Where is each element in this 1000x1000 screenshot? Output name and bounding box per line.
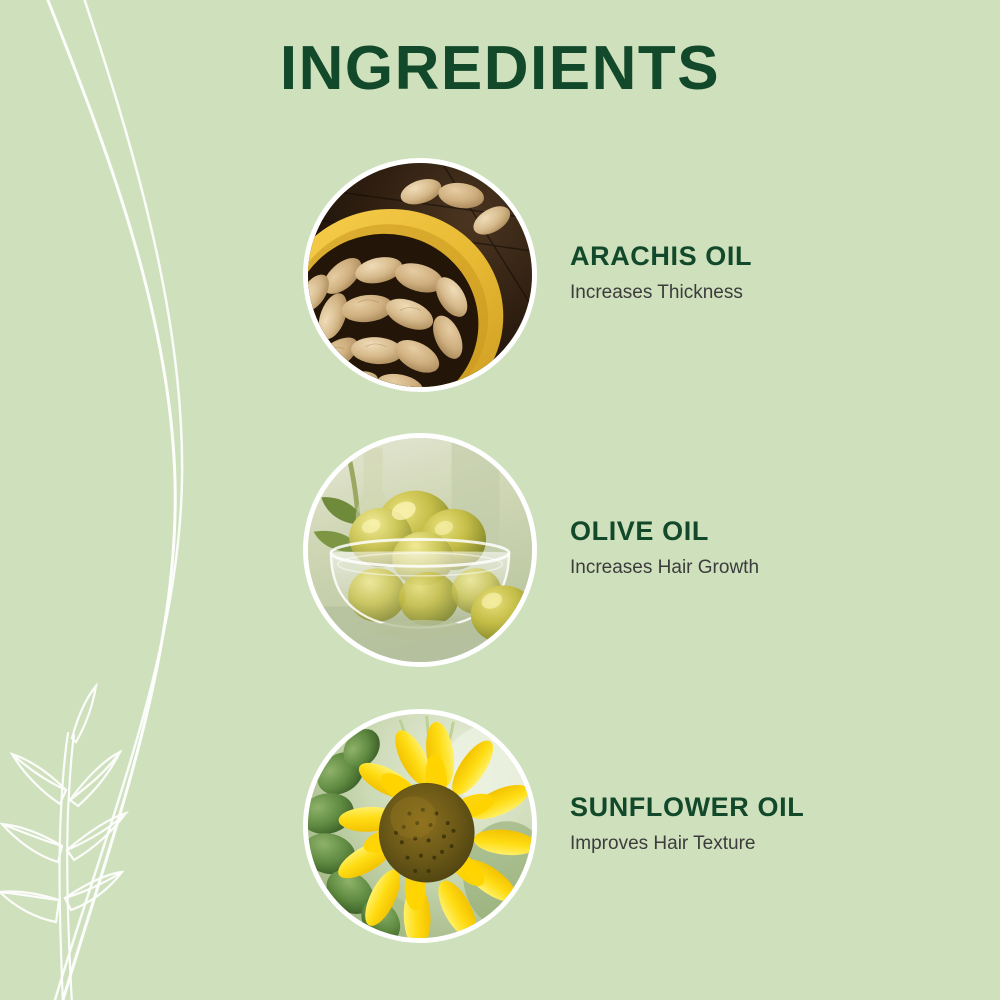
- ingredient-text-block: OLIVE OIL Increases Hair Growth: [570, 515, 759, 584]
- ingredient-item-olive-oil: OLIVE OIL Increases Hair Growth: [303, 432, 943, 668]
- ingredient-image-olives: [303, 433, 537, 667]
- ingredient-description: Improves Hair Texture: [570, 832, 804, 857]
- ingredient-image-peanuts: [303, 158, 537, 392]
- ingredient-name: OLIVE OIL: [570, 515, 759, 547]
- ingredient-list: ARACHIS OIL Increases Thickness: [0, 0, 1000, 1000]
- ingredient-image-sunflower: [303, 709, 537, 943]
- ingredient-text-block: ARACHIS OIL Increases Thickness: [570, 240, 752, 309]
- ingredient-item-arachis-oil: ARACHIS OIL Increases Thickness: [303, 157, 943, 393]
- page-title: INGREDIENTS: [0, 36, 1000, 101]
- ingredient-item-sunflower-oil: SUNFLOWER OIL Improves Hair Texture: [303, 708, 943, 944]
- ingredient-name: SUNFLOWER OIL: [570, 791, 804, 823]
- ingredient-text-block: SUNFLOWER OIL Improves Hair Texture: [570, 791, 804, 860]
- ingredient-description: Increases Thickness: [570, 281, 752, 306]
- ingredient-name: ARACHIS OIL: [570, 240, 752, 272]
- ingredient-description: Increases Hair Growth: [570, 556, 759, 581]
